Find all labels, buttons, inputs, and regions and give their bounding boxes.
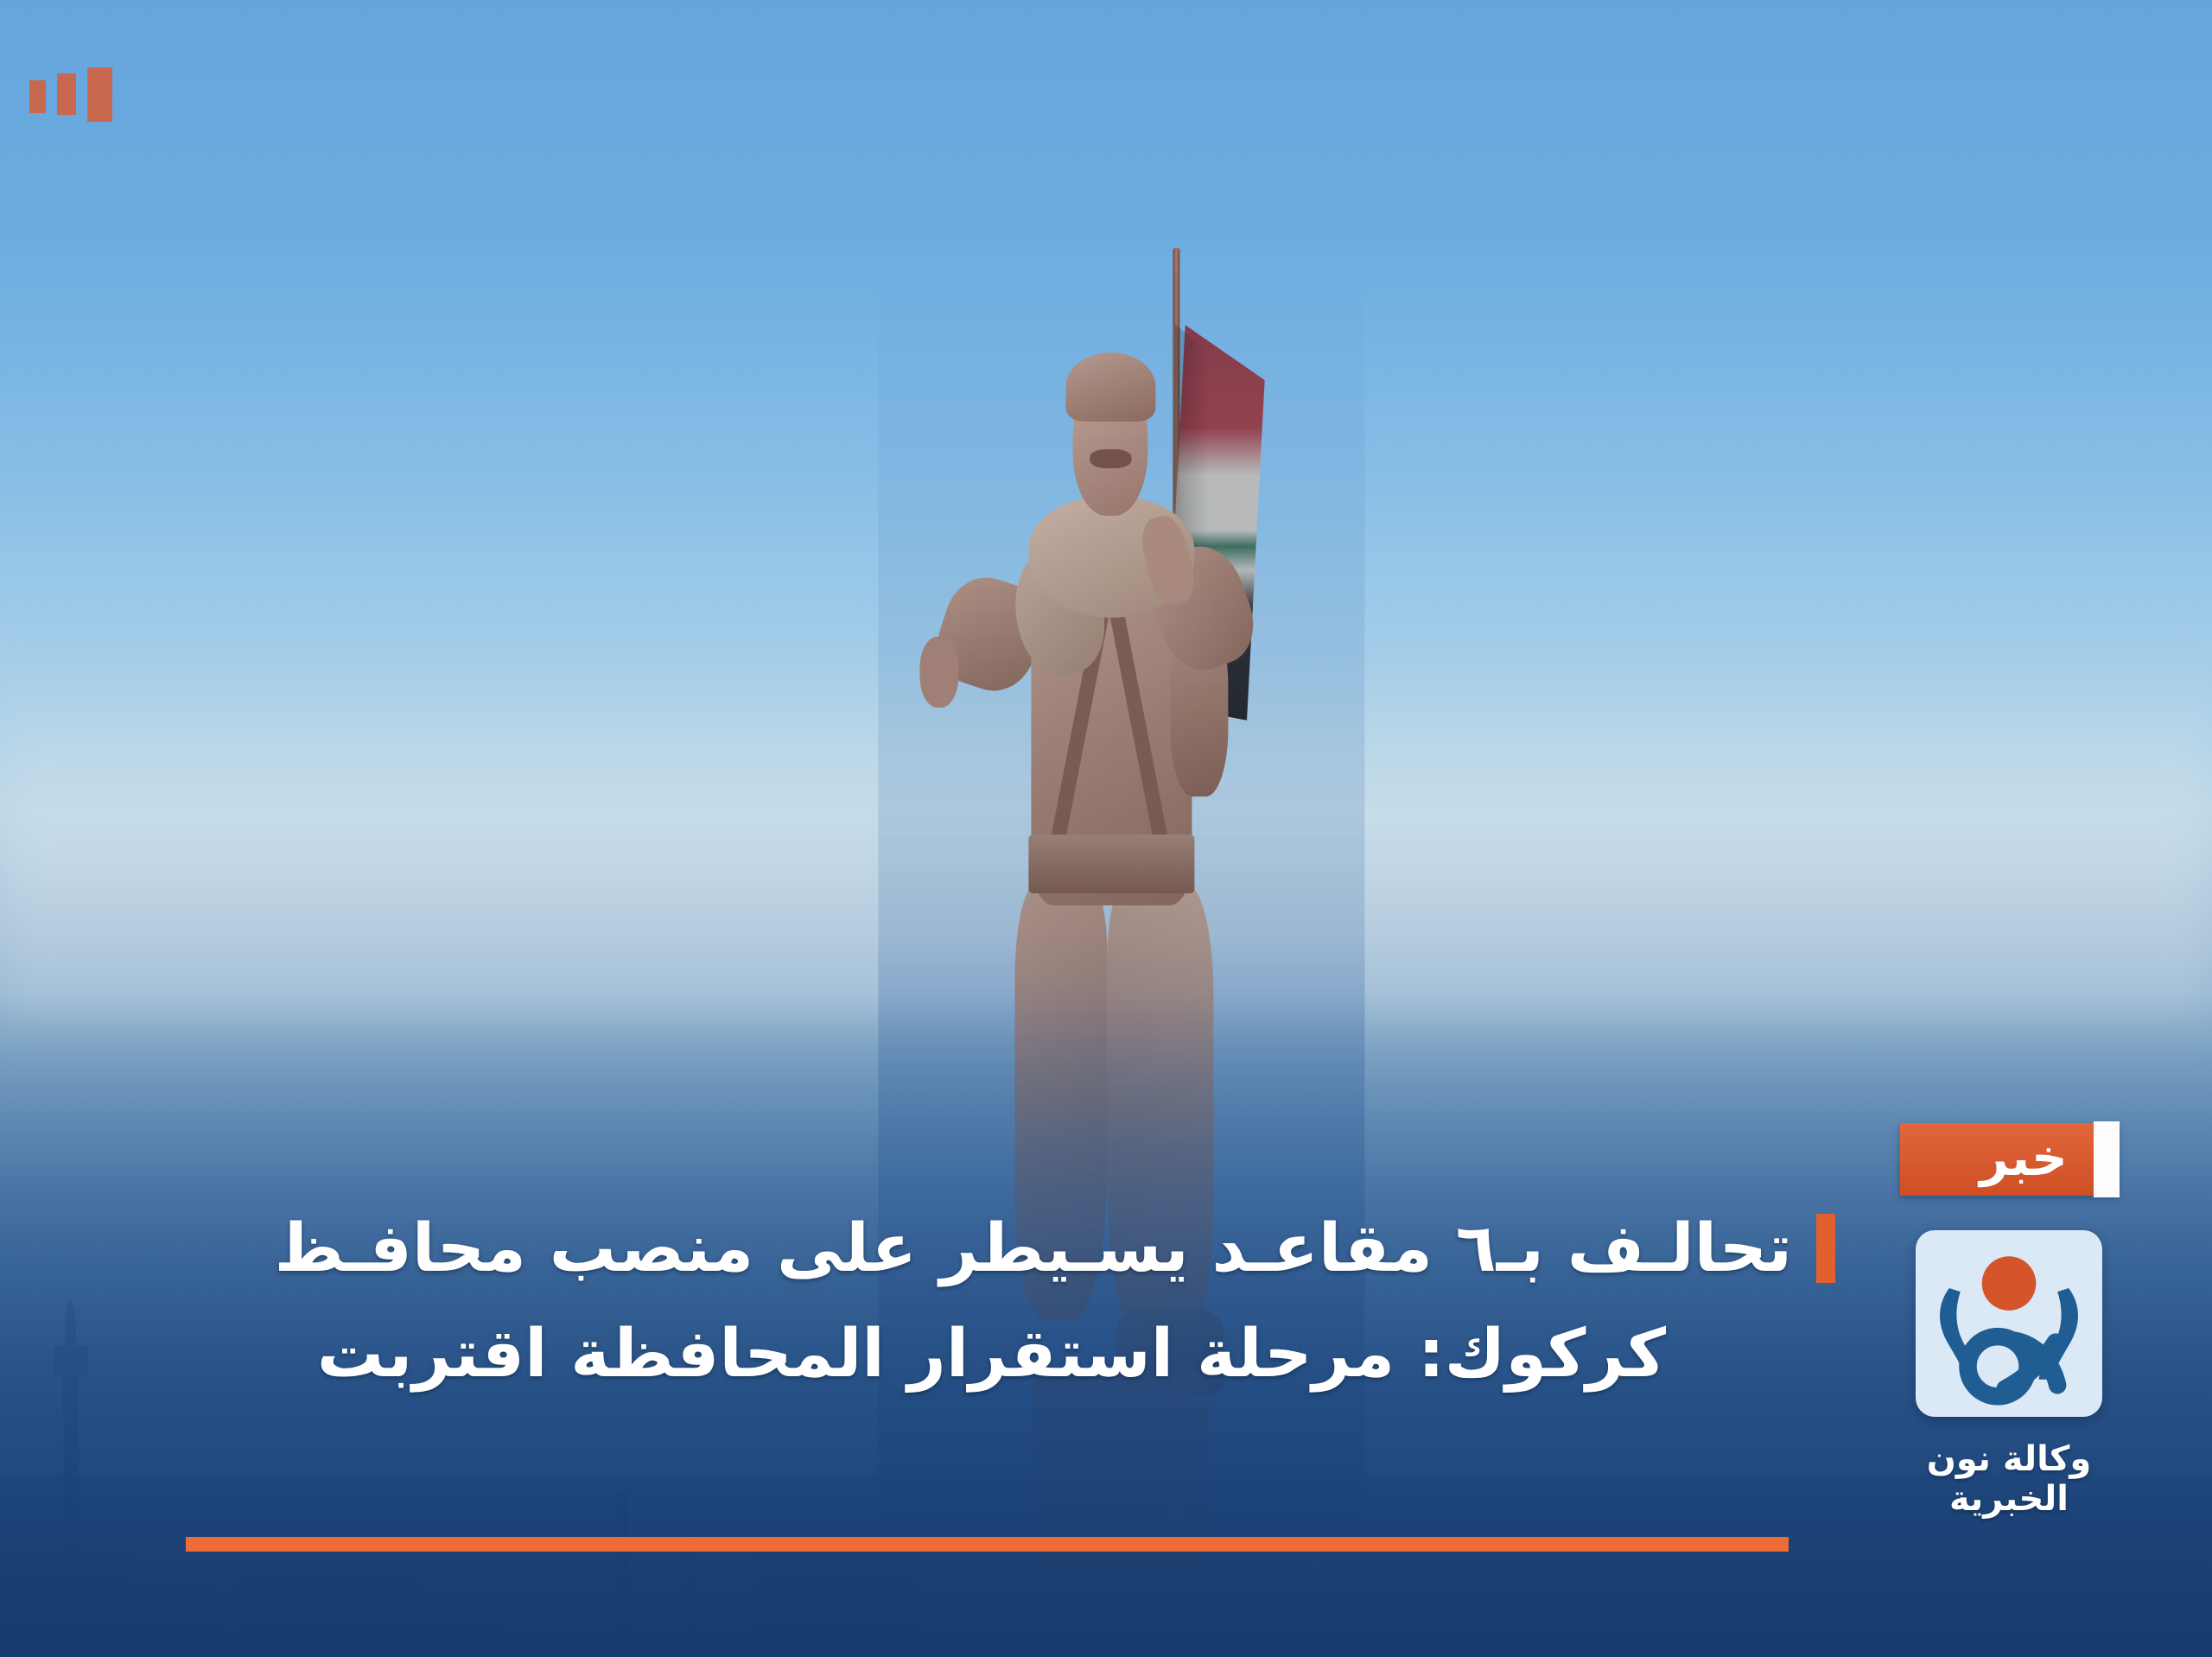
bar-icon: [57, 73, 76, 115]
bar-icon: [29, 80, 46, 113]
headline: تحالـف بـ٦ مقاعـد يسـيطر على منصب محافـظ…: [91, 1197, 1840, 1406]
headline-accent-mark: [1816, 1214, 1835, 1283]
bar-icon: [87, 67, 112, 122]
news-badge-label: خبر: [1950, 1133, 2068, 1186]
brand-column: خبر وكالة نون الخبرية: [1866, 1123, 2152, 1519]
bottom-divider: [186, 1537, 1789, 1552]
news-card: تحالـف بـ٦ مقاعـد يسـيطر على منصب محافـظ…: [0, 0, 2212, 1657]
headline-line-2: كركوك: مرحلة استقرار المحافظة اقتربت: [91, 1302, 1840, 1407]
agency-logo[interactable]: [1916, 1230, 2102, 1417]
agency-name: وكالة نون الخبرية: [1866, 1439, 2152, 1519]
headline-line-1: تحالـف بـ٦ مقاعـد يسـيطر على منصب محافـظ: [91, 1197, 1840, 1302]
three-bars-logo: [29, 67, 112, 122]
news-badge-white-tab: [2094, 1121, 2120, 1197]
headline-line-1-text: تحالـف بـ٦ مقاعـد يسـيطر على منصب محافـظ: [275, 1210, 1792, 1287]
news-badge[interactable]: خبر: [1900, 1123, 2119, 1196]
noon-logo-icon: [1916, 1230, 2102, 1417]
